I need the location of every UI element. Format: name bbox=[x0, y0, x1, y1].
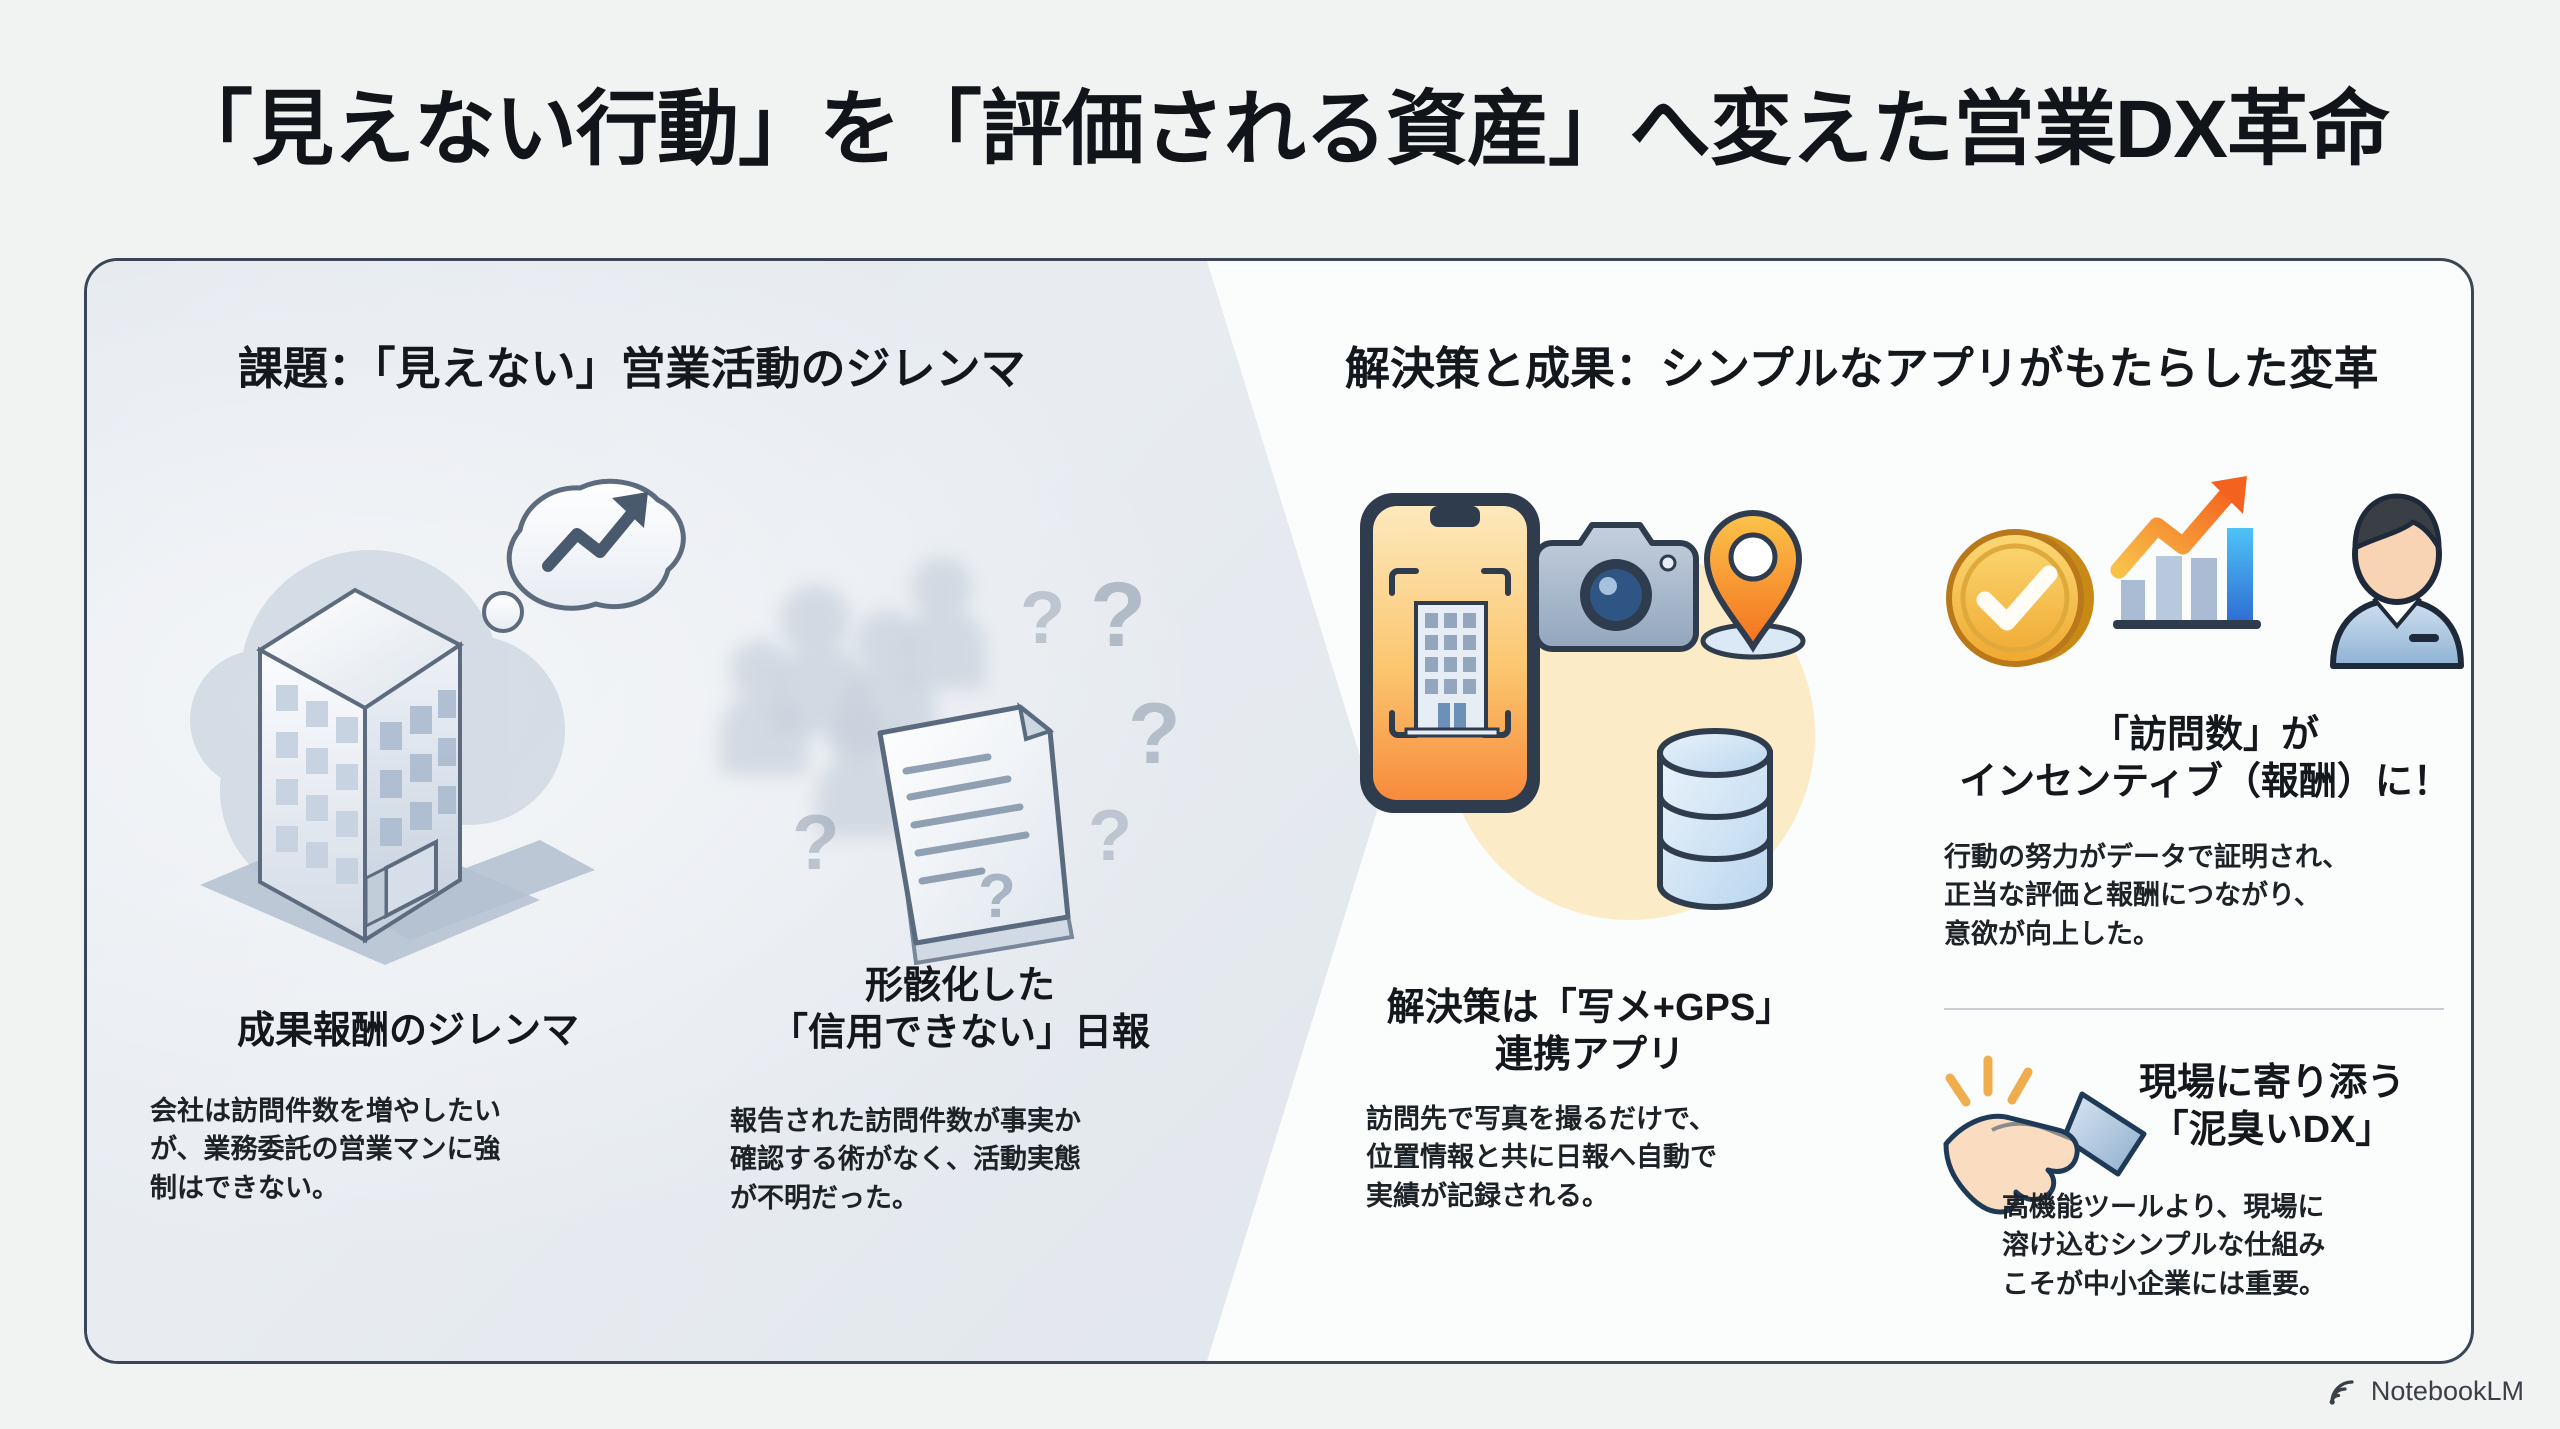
office-building-thought-bubble-icon bbox=[140, 470, 720, 990]
gold-coin-check-icon bbox=[1949, 532, 2094, 664]
outcome-divider bbox=[1944, 1008, 2444, 1010]
section-header-problem: 課題：「見えない」営業活動のジレンマ bbox=[238, 332, 1026, 397]
infographic-page: 「見えない行動」を「評価される資産」へ変えた営業DX革命 課題：「見えない」営業… bbox=[0, 0, 2560, 1429]
problem-card-title-2: 形骸化した 「信用できない」日報 bbox=[710, 963, 1210, 1057]
blurred-people-document-question-icon: ? ? ? ? ? ? bbox=[720, 545, 1220, 965]
outcome-card-title-1: 「訪問数」が インセンティブ（報酬）に！ bbox=[1930, 712, 2480, 806]
outcome-icon-row bbox=[1935, 470, 2480, 690]
page-title: 「見えない行動」を「評価される資産」へ変えた営業DX革命 bbox=[0, 62, 2560, 181]
solution-card-title: 解決策は「写メ+GPS」 連携アプリ bbox=[1350, 985, 1830, 1079]
solution-card-body: 訪問先で写真を撮るだけで、 位置情報と共に日報へ自動で 実績が記録される。 bbox=[1366, 1100, 1816, 1215]
problem-card-body-2: 報告された訪問件数が事実か 確認する術がなく、活動実態 が不明だった。 bbox=[730, 1102, 1190, 1217]
notebooklm-watermark: NotebookLM bbox=[2327, 1376, 2524, 1407]
section-header-solution: 解決策と成果：シンプルなアプリがもたらした変革 bbox=[1345, 332, 2379, 397]
salesperson-avatar-icon bbox=[2333, 496, 2461, 666]
smartphone-camera-gps-database-icon bbox=[1330, 445, 1870, 965]
outcome-card-title-2: 現場に寄り添う 「泥臭いDX」 bbox=[2072, 1060, 2472, 1154]
notebooklm-label: NotebookLM bbox=[2371, 1376, 2524, 1407]
notebooklm-logo-icon bbox=[2327, 1377, 2359, 1407]
problem-card-body-1: 会社は訪問件数を増やしたい が、業務委託の営業マンに強 制はできない。 bbox=[150, 1092, 620, 1207]
problem-card-title-1: 成果報酬のジレンマ bbox=[148, 1008, 668, 1055]
outcome-card-body-2: 高機能ツールより、現場に 溶け込むシンプルな仕組み こそが中小企業には重要。 bbox=[2002, 1188, 2472, 1303]
outcome-card-body-1: 行動の努力がデータで証明され、 正当な評価と報酬につながり、 意欲が向上した。 bbox=[1944, 838, 2464, 953]
growth-bar-chart-arrow-icon bbox=[2113, 476, 2261, 629]
svg-text:?: ? bbox=[978, 862, 1016, 931]
